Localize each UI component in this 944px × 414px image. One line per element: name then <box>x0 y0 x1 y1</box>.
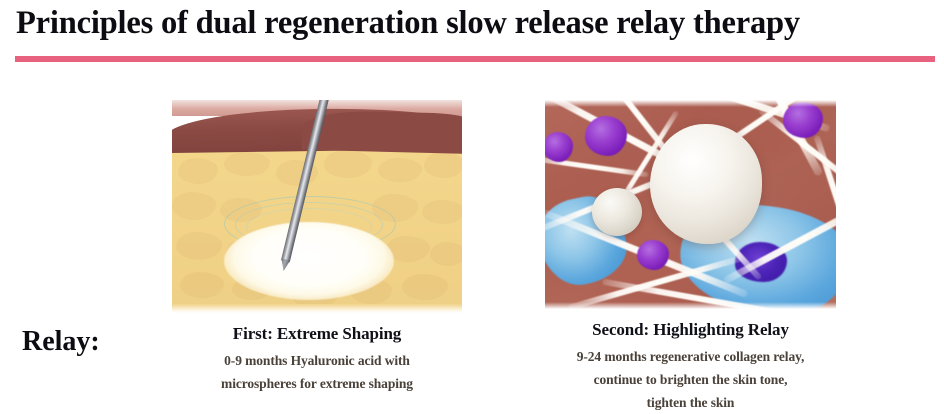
microsphere-large <box>650 124 762 244</box>
relay-label: Relay: <box>22 325 100 359</box>
microsphere-small <box>592 188 642 236</box>
page-title: Principles of dual regeneration slow rel… <box>16 2 926 44</box>
title-divider-rule <box>15 56 935 62</box>
image-bottom-fade <box>545 302 836 309</box>
purple-cluster <box>637 240 669 270</box>
skin-cross-section-injection-illustration <box>172 100 462 313</box>
caption-body: 0-9 months Hyaluronic acid with microsph… <box>172 349 462 395</box>
collagen-matrix-microsphere-micrograph <box>545 100 836 309</box>
caption-body-line: continue to brighten the skin tone, <box>545 368 836 391</box>
epidermis-layer-right <box>302 110 462 154</box>
caption-body-line: microspheres for extreme shaping <box>172 372 462 395</box>
filler-deposit-pool <box>224 222 394 300</box>
caption-body-line: tighten the skin <box>545 391 836 414</box>
panel-first-stage: First: Extreme Shaping 0-9 months Hyalur… <box>172 100 462 395</box>
panel-second-stage: Second: Highlighting Relay 9-24 months r… <box>545 100 836 414</box>
image-bottom-fade <box>172 304 462 313</box>
caption-heading: Second: Highlighting Relay <box>545 318 836 342</box>
caption-second-stage: Second: Highlighting Relay 9-24 months r… <box>545 318 836 414</box>
image-top-fade <box>545 100 836 107</box>
purple-cluster <box>585 116 627 156</box>
caption-body-line: 0-9 months Hyaluronic acid with <box>172 349 462 372</box>
caption-heading: First: Extreme Shaping <box>172 322 462 346</box>
caption-body: 9-24 months regenerative collagen relay,… <box>545 345 836 414</box>
caption-first-stage: First: Extreme Shaping 0-9 months Hyalur… <box>172 322 462 395</box>
purple-cluster <box>783 102 823 138</box>
caption-body-line: 9-24 months regenerative collagen relay, <box>545 345 836 368</box>
